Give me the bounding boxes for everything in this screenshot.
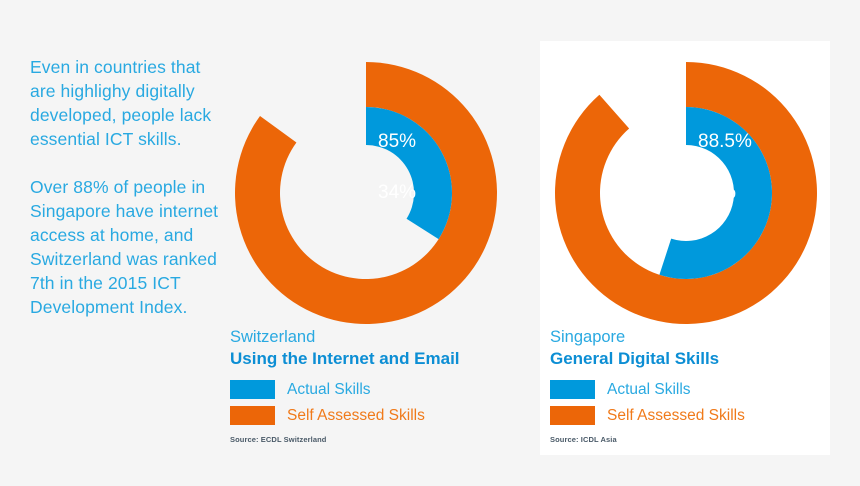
- outer-ring-self-assessed: [235, 62, 497, 324]
- topic-label: General Digital Skills: [550, 348, 835, 370]
- outer-percent-label: 85%: [378, 131, 416, 152]
- inner-percent-label: 55%: [698, 182, 736, 203]
- caption-singapore: Singapore General Digital Skills Actual …: [550, 328, 835, 444]
- legend-label-actual-skills: Actual Skills: [287, 380, 371, 399]
- donut-chart-singapore: 88.5% 55%: [548, 55, 824, 331]
- source-label: Source: ECDL Switzerland: [230, 435, 515, 444]
- outer-percent-label: 88.5%: [698, 131, 752, 152]
- inner-percent-label: 34%: [378, 182, 416, 203]
- caption-switzerland: Switzerland Using the Internet and Email…: [230, 328, 515, 444]
- panel-switzerland: 85% 34% Switzerland Using the Internet a…: [222, 0, 522, 486]
- legend-swatch-orange-icon: [230, 406, 275, 425]
- legend-label-self-assessed-skills: Self Assessed Skills: [287, 406, 425, 425]
- legend-swatch-blue-icon: [550, 380, 595, 399]
- legend-label-self-assessed-skills: Self Assessed Skills: [607, 406, 745, 425]
- legend-item-self-assessed-skills: Self Assessed Skills: [230, 404, 515, 426]
- narrative-paragraph-2: Over 88% of people in Singapore have int…: [30, 175, 225, 319]
- legend-item-actual-skills: Actual Skills: [230, 378, 515, 400]
- legend-item-self-assessed-skills: Self Assessed Skills: [550, 404, 835, 426]
- topic-label: Using the Internet and Email: [230, 348, 515, 370]
- country-label: Singapore: [550, 328, 835, 347]
- infographic-stage: Even in countries that are highlighy dig…: [0, 0, 860, 486]
- panel-singapore: 88.5% 55% Singapore General Digital Skil…: [542, 0, 842, 486]
- legend-swatch-blue-icon: [230, 380, 275, 399]
- country-label: Switzerland: [230, 328, 515, 347]
- legend-swatch-orange-icon: [550, 406, 595, 425]
- outer-ring-self-assessed: [555, 62, 817, 324]
- source-label: Source: ICDL Asia: [550, 435, 835, 444]
- legend-switzerland: Actual Skills Self Assessed Skills: [230, 378, 515, 426]
- legend-item-actual-skills: Actual Skills: [550, 378, 835, 400]
- narrative-text: Even in countries that are highlighy dig…: [30, 55, 225, 319]
- donut-chart-switzerland: 85% 34%: [228, 55, 504, 331]
- legend-singapore: Actual Skills Self Assessed Skills: [550, 378, 835, 426]
- donut-svg-singapore: 88.5% 55%: [548, 55, 824, 331]
- narrative-paragraph-1: Even in countries that are highlighy dig…: [30, 55, 225, 151]
- donut-svg-switzerland: 85% 34%: [228, 55, 504, 331]
- legend-label-actual-skills: Actual Skills: [607, 380, 691, 399]
